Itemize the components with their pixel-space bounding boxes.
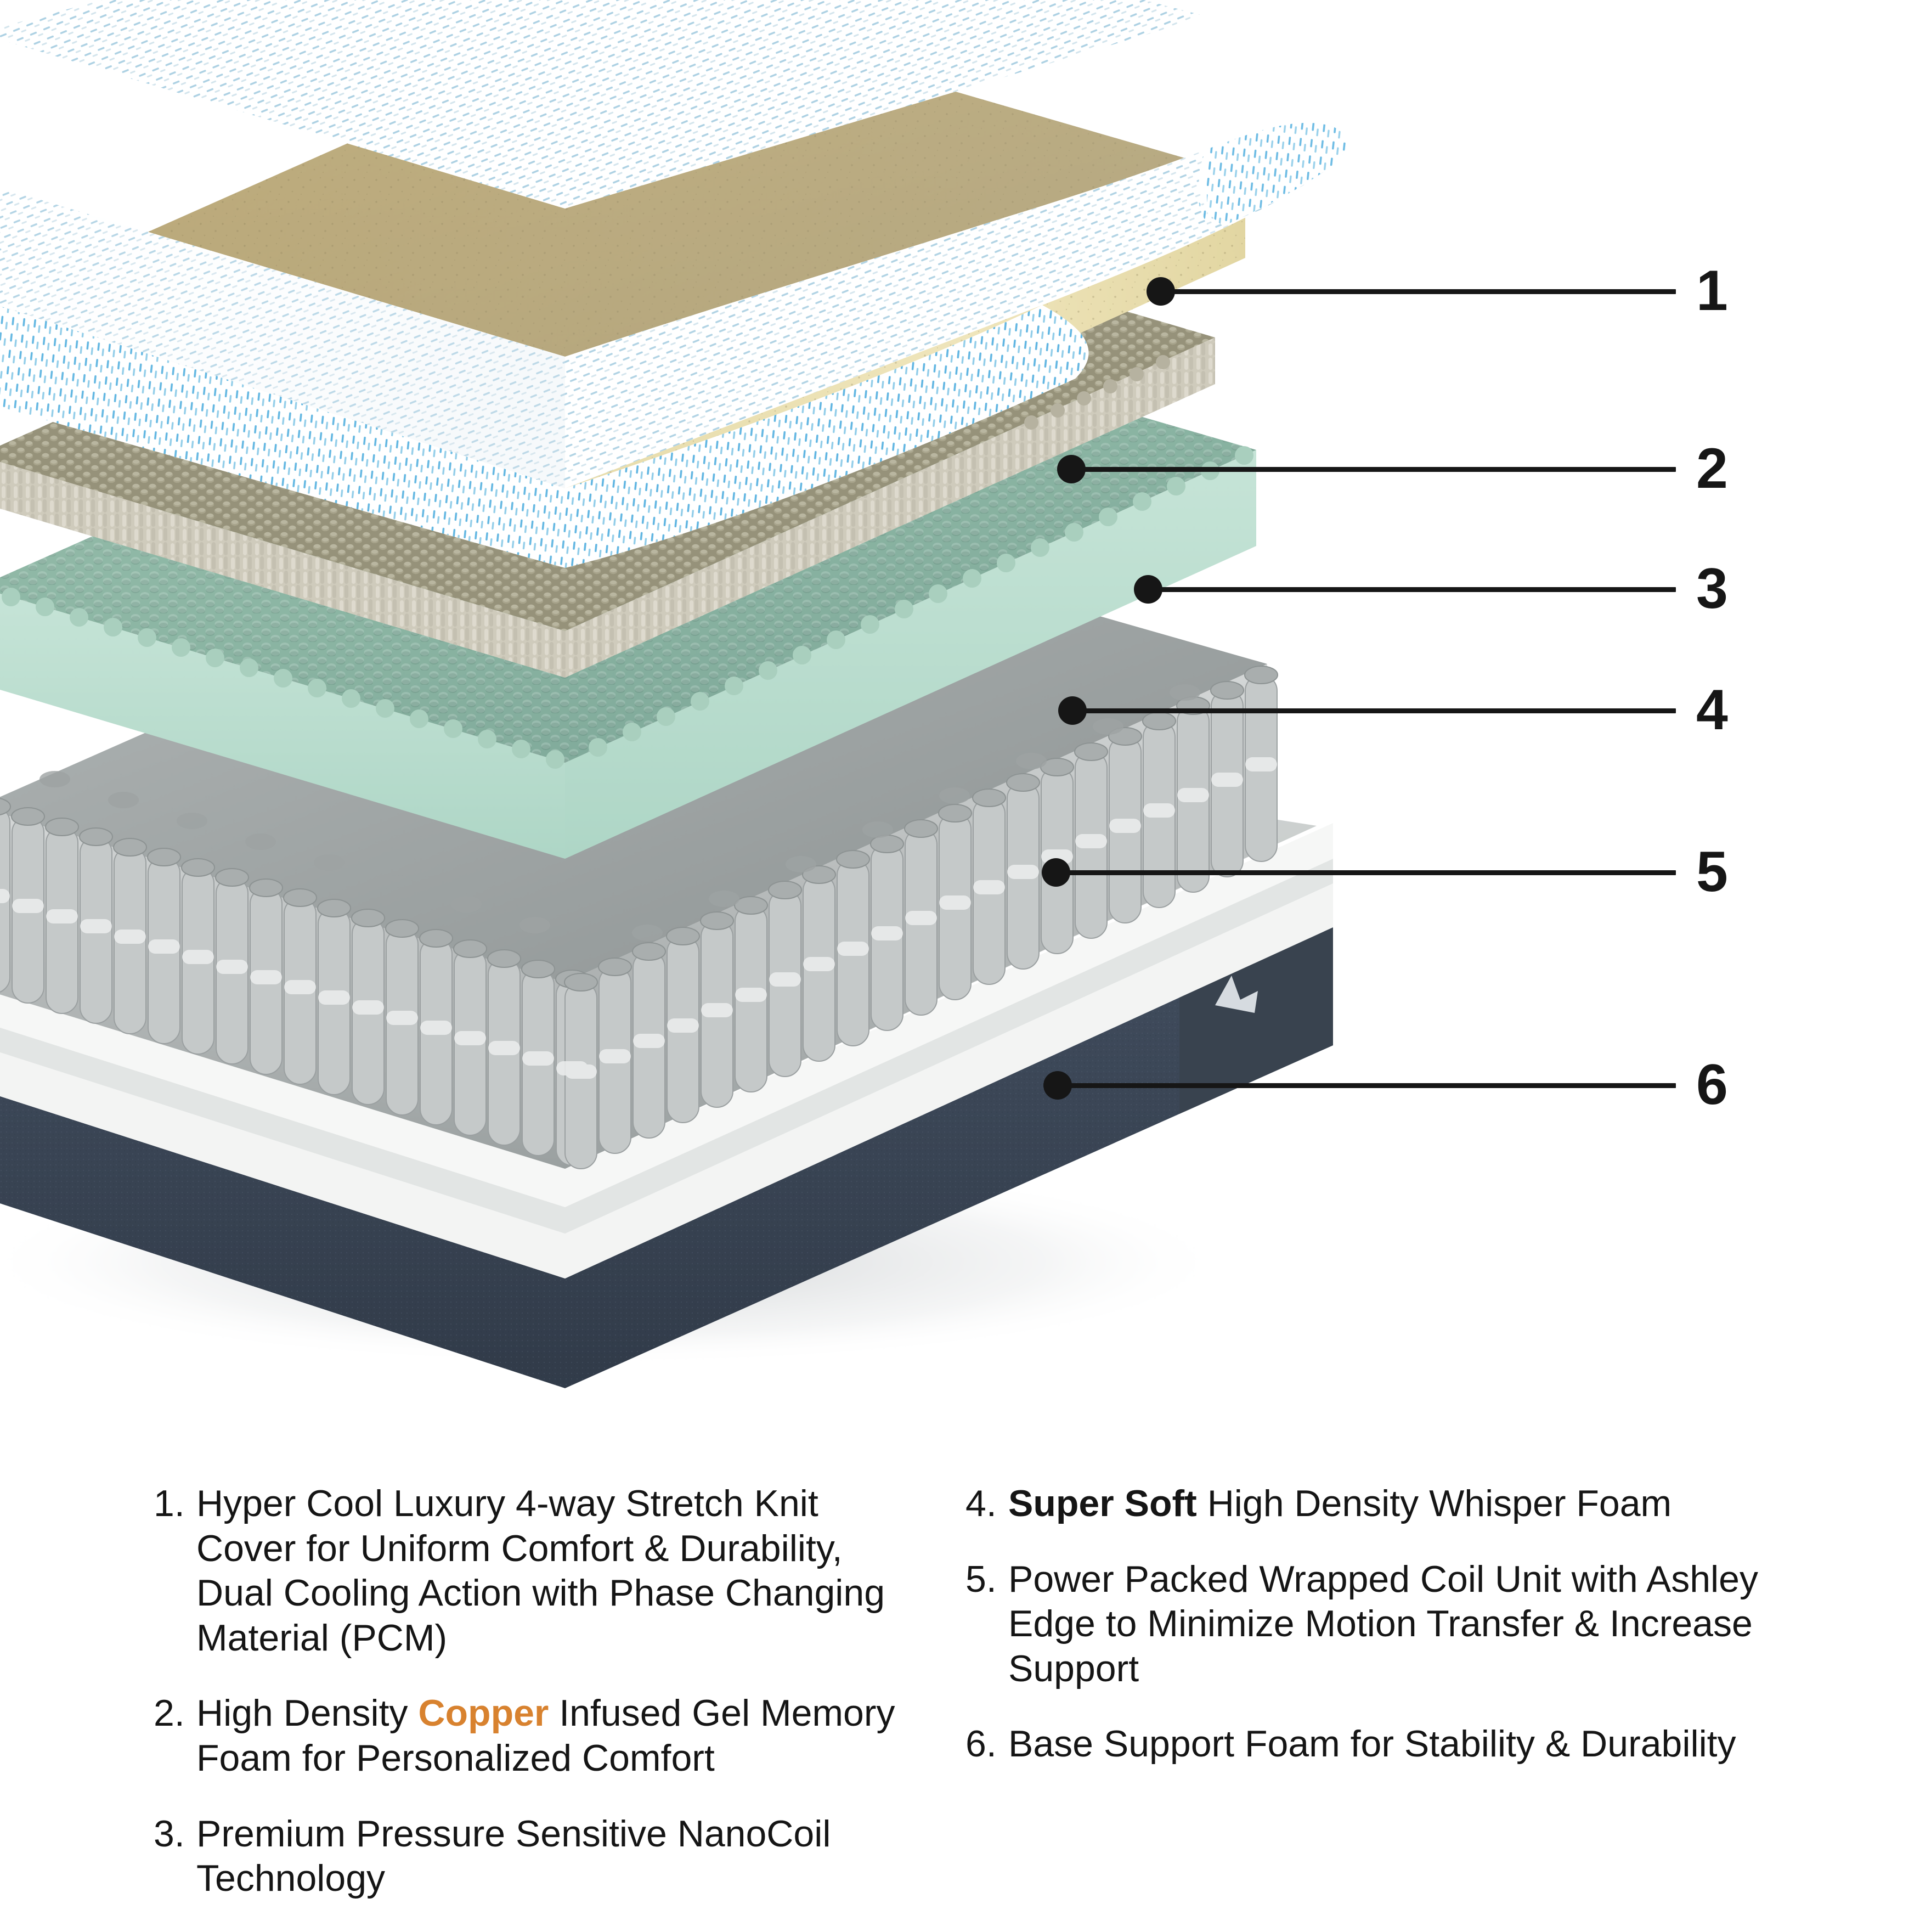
feature-legend: 1. Hyper Cool Luxury 4-way Stretch Knit … [0, 1482, 1920, 1920]
callout-line-6 [1058, 1083, 1676, 1088]
callout-number-6: 6 [1696, 1056, 1727, 1113]
exploded-mattress-illustration: 1 2 3 4 5 6 [0, 0, 1920, 1427]
legend-item-4: 4. Super Soft High Density Whisper Foam [965, 1482, 1821, 1527]
legend-number-4: 4. [965, 1482, 1008, 1527]
callout-line-1 [1161, 289, 1676, 294]
legend-text-2-highlight-copper: Copper [418, 1692, 549, 1734]
legend-item-3: 3. Premium Pressure Sensitive NanoCoil T… [154, 1812, 911, 1901]
callout-line-5 [1056, 870, 1676, 875]
legend-item-6: 6. Base Support Foam for Stability & Dur… [965, 1722, 1821, 1767]
legend-text-1-body: Hyper Cool Luxury 4-way Stretch Knit Cov… [196, 1483, 885, 1659]
legend-number-1: 1. [154, 1482, 196, 1660]
legend-item-5: 5. Power Packed Wrapped Coil Unit with A… [965, 1557, 1821, 1692]
mattress-layer-diagram-page: 1 2 3 4 5 6 1 [0, 0, 1920, 1920]
callout-number-3: 3 [1696, 560, 1727, 617]
legend-column-left: 1. Hyper Cool Luxury 4-way Stretch Knit … [154, 1482, 911, 1932]
legend-text-4: Super Soft High Density Whisper Foam [1008, 1482, 1821, 1527]
legend-number-5: 5. [965, 1557, 1008, 1692]
legend-text-5: Power Packed Wrapped Coil Unit with Ashl… [1008, 1557, 1821, 1692]
callout-line-3 [1148, 587, 1676, 592]
legend-text-2-before: High Density [196, 1692, 418, 1734]
legend-text-2: High Density Copper Infused Gel Memory F… [196, 1691, 911, 1781]
callout-number-2: 2 [1696, 440, 1727, 497]
legend-item-1: 1. Hyper Cool Luxury 4-way Stretch Knit … [154, 1482, 911, 1660]
legend-text-3-body: Premium Pressure Sensitive NanoCoil Tech… [196, 1813, 831, 1900]
legend-text-4-bold: Super Soft [1008, 1483, 1197, 1524]
legend-text-5-body: Power Packed Wrapped Coil Unit with Ashl… [1008, 1558, 1758, 1689]
legend-text-6: Base Support Foam for Stability & Durabi… [1008, 1722, 1821, 1767]
legend-number-6: 6. [965, 1722, 1008, 1767]
callout-line-2 [1071, 467, 1676, 472]
legend-number-3: 3. [154, 1812, 196, 1901]
callout-number-5: 5 [1696, 843, 1727, 900]
callout-number-1: 1 [1696, 262, 1727, 319]
legend-number-2: 2. [154, 1691, 196, 1781]
callout-number-4: 4 [1696, 681, 1727, 739]
legend-text-4-after: High Density Whisper Foam [1197, 1483, 1671, 1524]
legend-text-1: Hyper Cool Luxury 4-way Stretch Knit Cov… [196, 1482, 911, 1660]
callout-line-4 [1072, 708, 1676, 713]
legend-text-3: Premium Pressure Sensitive NanoCoil Tech… [196, 1812, 911, 1901]
legend-column-right: 4. Super Soft High Density Whisper Foam … [965, 1482, 1821, 1798]
legend-item-2: 2. High Density Copper Infused Gel Memor… [154, 1691, 911, 1781]
legend-text-6-body: Base Support Foam for Stability & Durabi… [1008, 1723, 1736, 1765]
